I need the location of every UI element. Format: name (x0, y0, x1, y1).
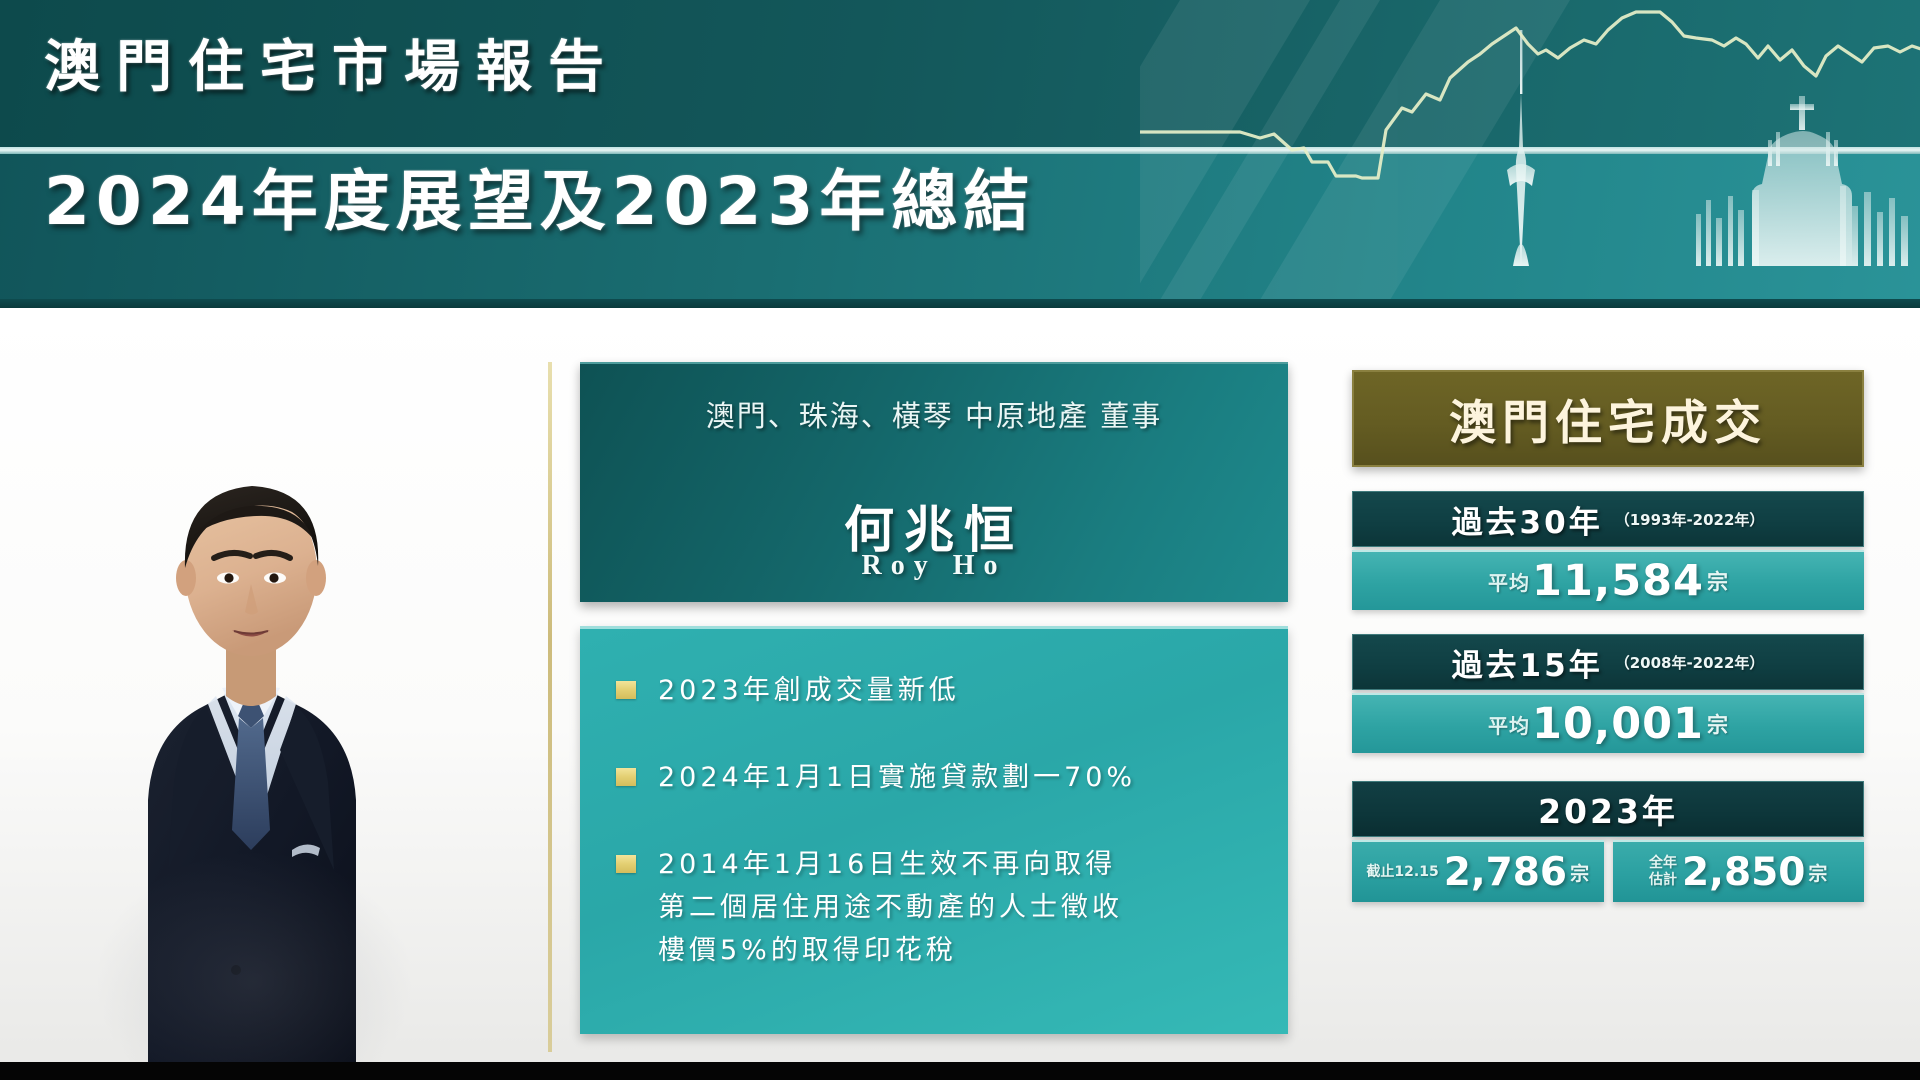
stats-panel: 澳門住宅成交 過去30年 （1993年-2022年） 平均 11,584 宗 過… (1352, 370, 1864, 902)
stat-period-main: 過去15年 (1452, 640, 1603, 685)
presenter-photo (56, 330, 446, 1065)
presenter-name-en: Roy Ho (580, 550, 1288, 582)
page-subtitle: 2024年度展望及2023年總結 (44, 148, 1035, 244)
year-cell-label: 截止12.15 (1366, 864, 1438, 881)
stat-period-header: 過去30年 （1993年-2022年） (1352, 491, 1864, 547)
list-item: 2024年1月1日實施貸款劃一70% (616, 756, 1262, 799)
stat-group-15y: 過去15年 （2008年-2022年） 平均 10,001 宗 (1352, 634, 1864, 753)
stat-period-header: 過去15年 （2008年-2022年） (1352, 634, 1864, 690)
year-header: 2023年 (1352, 781, 1864, 837)
year-cell-unit: 宗 (1808, 859, 1827, 886)
stat-period-range: （2008年-2022年） (1615, 652, 1765, 673)
stats-panel-header: 澳門住宅成交 (1352, 370, 1864, 467)
stat-group-2023: 2023年 截止12.15 2,786 宗 全年 估計 2,850 宗 (1352, 781, 1864, 902)
stats-panel-header-label: 澳門住宅成交 (1449, 384, 1767, 453)
list-item-text: 2024年1月1日實施貸款劃一70% (658, 756, 1136, 799)
bottom-letterbox-bar (0, 1062, 1920, 1080)
square-bullet-icon (616, 681, 636, 699)
stat-value-row: 平均 10,001 宗 (1352, 693, 1864, 753)
year-cell-number: 2,786 (1444, 850, 1567, 895)
year-header-label: 2023年 (1538, 785, 1678, 833)
header-bottom-edge (0, 299, 1920, 308)
presenter-organization: 澳門、珠海、橫琴 中原地產 董事 (580, 394, 1288, 438)
photo-shadow (94, 850, 414, 1070)
ruins-of-st-pauls-icon (1752, 96, 1852, 266)
year-cells: 截止12.15 2,786 宗 全年 估計 2,850 宗 (1352, 840, 1864, 902)
stat-period-range: （1993年-2022年） (1615, 509, 1765, 530)
slide-root: 澳門住宅市場報告 2024年度展望及2023年總結 (0, 0, 1920, 1080)
stat-value-prefix: 平均 (1488, 567, 1530, 596)
stat-value-number: 10,001 (1532, 699, 1704, 749)
stat-group-30y: 過去30年 （1993年-2022年） 平均 11,584 宗 (1352, 491, 1864, 610)
list-item-text: 2023年創成交量新低 (658, 669, 960, 712)
header-graphics (1140, 0, 1920, 300)
key-points-card: 2023年創成交量新低 2024年1月1日實施貸款劃一70% 2014年1月16… (580, 626, 1288, 1034)
gold-vertical-rule (548, 362, 552, 1052)
square-bullet-icon (616, 855, 636, 873)
stat-value-prefix: 平均 (1488, 710, 1530, 739)
stat-value-unit: 宗 (1707, 566, 1728, 596)
stat-value-unit: 宗 (1707, 709, 1728, 739)
square-bullet-icon (616, 768, 636, 786)
list-item: 2023年創成交量新低 (616, 669, 1262, 712)
year-cell-number: 2,850 (1682, 850, 1805, 895)
center-column: 澳門、珠海、橫琴 中原地產 董事 何兆恒 Roy Ho 2023年創成交量新低 … (548, 352, 1288, 1064)
list-item-text: 2014年1月16日生效不再向取得 第二個居住用途不動產的人士徵收 樓價5%的取… (658, 843, 1123, 972)
year-cell-forecast: 全年 估計 2,850 宗 (1613, 840, 1865, 902)
year-cell-label: 全年 估計 (1649, 855, 1677, 889)
stat-value-number: 11,584 (1532, 556, 1704, 606)
year-cell-ytd: 截止12.15 2,786 宗 (1352, 840, 1604, 902)
list-item: 2014年1月16日生效不再向取得 第二個居住用途不動產的人士徵收 樓價5%的取… (616, 843, 1262, 972)
presenter-name-card: 澳門、珠海、橫琴 中原地產 董事 何兆恒 Roy Ho (580, 362, 1288, 602)
stat-value-row: 平均 11,584 宗 (1352, 550, 1864, 610)
sheen-bands (1140, 0, 1570, 300)
page-title: 澳門住宅市場報告 (44, 22, 620, 103)
year-cell-unit: 宗 (1570, 859, 1589, 886)
stat-period-main: 過去30年 (1452, 497, 1603, 542)
slide-header: 澳門住宅市場報告 2024年度展望及2023年總結 (0, 0, 1920, 308)
